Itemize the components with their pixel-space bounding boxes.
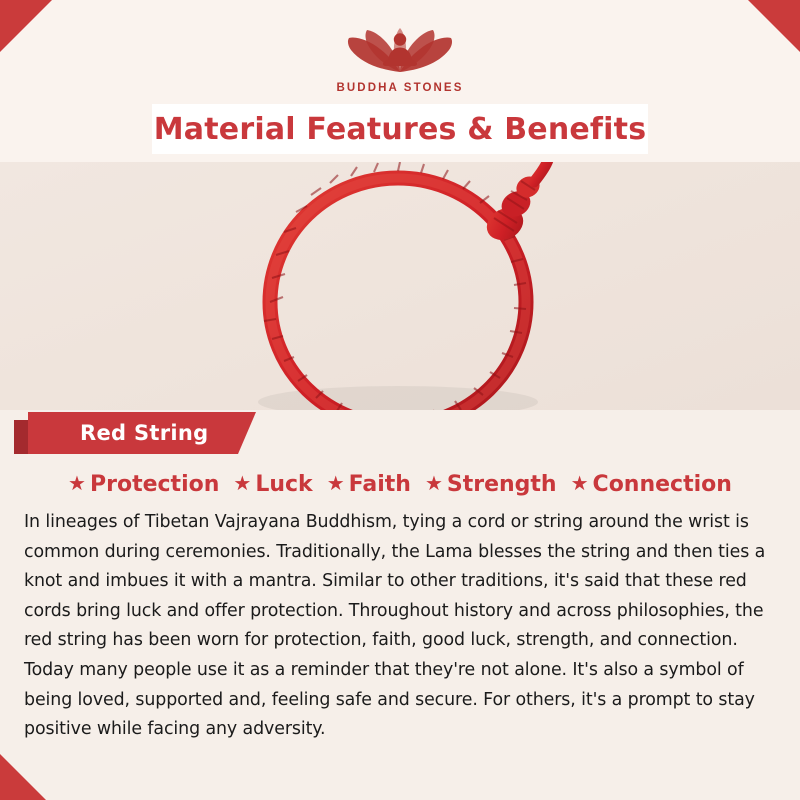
benefit-item: ★ Faith [327,472,411,497]
benefit-label: Connection [593,472,732,497]
ribbon-fold-accent [14,420,30,454]
material-label-text: Red String [80,421,208,445]
benefit-label: Luck [255,472,312,497]
red-string-bracelet-illustration [0,162,800,410]
brand-name: BUDDHA STONES [337,82,464,94]
corner-accent-bottom-left-icon [0,754,46,800]
benefit-item: ★ Luck [233,472,312,497]
header-band: BUDDHA STONES Material Features & Benefi… [0,0,800,162]
star-icon: ★ [327,474,345,494]
brand-logo: BUDDHA STONES [0,14,800,94]
infographic-page: BUDDHA STONES Material Features & Benefi… [0,0,800,800]
star-icon: ★ [425,474,443,494]
page-title: Material Features & Benefits [152,104,648,154]
lotus-meditating-figure-icon [324,14,476,80]
page-title-text: Material Features & Benefits [154,112,647,147]
star-icon: ★ [571,474,589,494]
benefit-label: Faith [349,472,411,497]
material-label: Red String [28,412,256,454]
benefit-item: ★ Strength [425,472,557,497]
product-image [0,162,800,410]
star-icon: ★ [68,474,86,494]
benefit-item: ★ Protection [68,472,219,497]
benefit-label: Strength [447,472,557,497]
star-icon: ★ [233,474,251,494]
benefit-label: Protection [90,472,219,497]
description-text: In lineages of Tibetan Vajrayana Buddhis… [24,508,776,745]
benefit-item: ★ Connection [571,472,732,497]
benefits-row: ★ Protection ★ Luck ★ Faith ★ Strength ★… [0,462,800,506]
